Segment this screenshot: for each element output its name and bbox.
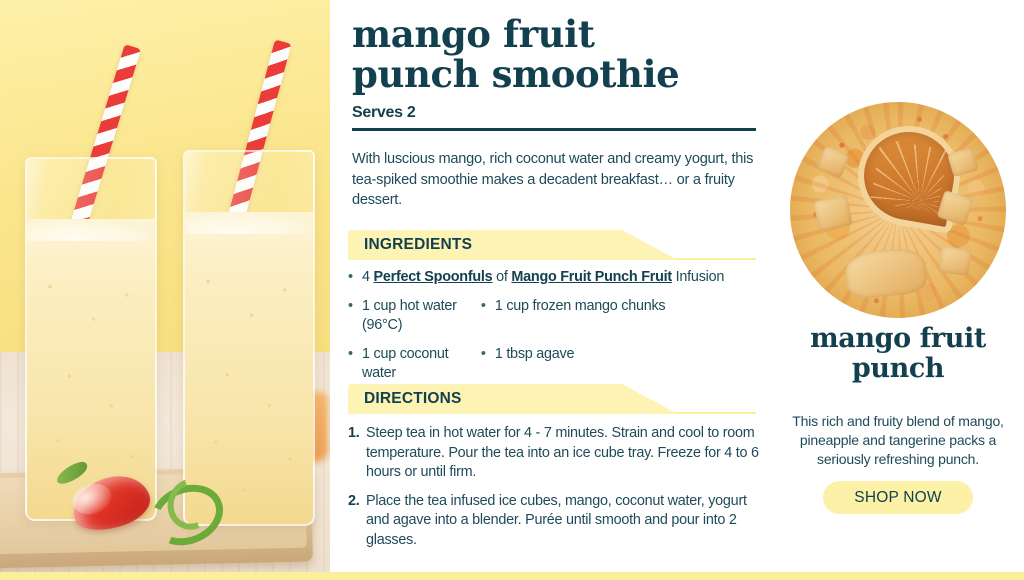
ingredient-text: 1 cup frozen mango chunks <box>495 297 666 335</box>
dried-fruit-chunk <box>813 195 852 231</box>
step-number: 1. <box>348 424 366 483</box>
bullet-icon: • <box>348 297 362 335</box>
smoothie-glass-right <box>183 150 315 526</box>
smoothie-photo <box>0 0 330 572</box>
bottom-accent-strip <box>0 572 1024 580</box>
smoothie-fill-left <box>27 219 155 519</box>
product-description: This rich and fruity blend of mango, pin… <box>784 412 1012 469</box>
ingredient-text: 1 cup coconut water <box>362 345 481 383</box>
recipe-title-line2: punch smoothie <box>352 52 679 96</box>
directions-heading: DIRECTIONS <box>364 390 462 408</box>
ingredient-row: •1 cup coconut water•1 tbsp agave <box>348 345 760 383</box>
serves-label: Serves 2 <box>352 104 415 122</box>
recipe-title: mango fruit punch smoothie <box>352 14 756 94</box>
ingredient-text: 1 cup hot water (96°C) <box>362 297 481 335</box>
recipe-title-line1: mango fruit <box>352 12 595 56</box>
step-number: 2. <box>348 492 366 551</box>
ingredient-text: 1 tbsp agave <box>495 345 574 383</box>
direction-step: 2.Place the tea infused ice cubes, mango… <box>348 492 764 551</box>
dried-fruit-chunk <box>844 246 928 300</box>
ingredients-banner: INGREDIENTS <box>348 230 756 262</box>
directions-list: 1.Steep tea in hot water for 4 - 7 minut… <box>348 424 764 560</box>
direction-step: 1.Steep tea in hot water for 4 - 7 minut… <box>348 424 764 483</box>
product-title-line1: mango fruit <box>810 323 986 354</box>
recipe-card: mango fruit punch smoothie Serves 2 With… <box>0 0 1024 580</box>
shop-now-button[interactable]: SHOP NOW <box>823 481 973 514</box>
smoothie-fill-right <box>185 212 313 524</box>
step-text: Steep tea in hot water for 4 - 7 minutes… <box>366 424 764 483</box>
ingredient-item: •1 tbsp agave <box>481 345 760 383</box>
smoothie-glass-left <box>25 157 157 521</box>
ingredient-item: •1 cup coconut water <box>348 345 481 383</box>
title-divider <box>352 128 756 131</box>
dried-fruit-chunk <box>938 246 971 276</box>
ingredient-row: •1 cup hot water (96°C)•1 cup frozen man… <box>348 297 760 335</box>
product-title: mango fruit punch <box>782 324 1014 384</box>
product-panel: mango fruit punch This rich and fruity b… <box>772 0 1024 572</box>
ingredient-text: 4 Perfect Spoonfuls of Mango Fruit Punch… <box>362 268 724 287</box>
bullet-icon: • <box>481 297 495 335</box>
recipe-content: mango fruit punch smoothie Serves 2 With… <box>330 0 772 572</box>
ingredients-heading: INGREDIENTS <box>364 236 472 254</box>
directions-banner: DIRECTIONS <box>348 384 756 416</box>
ingredient-item: •4 Perfect Spoonfuls of Mango Fruit Punc… <box>348 268 760 287</box>
ingredient-item: •1 cup frozen mango chunks <box>481 297 760 335</box>
step-text: Place the tea infused ice cubes, mango, … <box>366 492 764 551</box>
recipe-description: With luscious mango, rich coconut water … <box>352 149 760 211</box>
dried-fruit-chunk <box>816 146 849 178</box>
ingredient-item: •1 cup hot water (96°C) <box>348 297 481 335</box>
product-title-line2: punch <box>852 353 944 384</box>
dried-fruit-tea-image <box>790 102 1006 318</box>
bullet-icon: • <box>481 345 495 383</box>
bullet-icon: • <box>348 345 362 383</box>
bullet-icon: • <box>348 268 362 287</box>
ingredient-row: •4 Perfect Spoonfuls of Mango Fruit Punc… <box>348 268 760 287</box>
